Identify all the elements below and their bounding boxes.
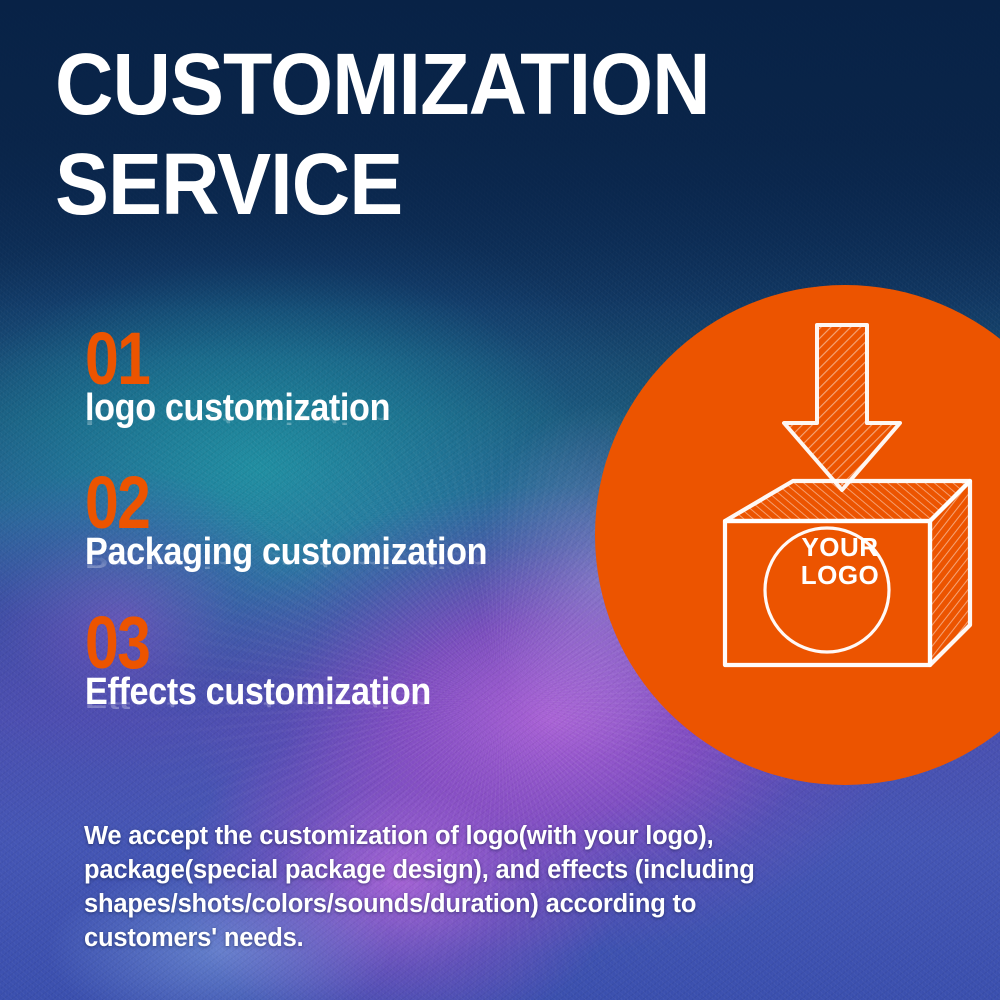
heading-line-2: SERVICE [55, 144, 735, 233]
service-title-02: Packaging customization [85, 533, 553, 571]
your-logo-line-1: YOUR [780, 533, 900, 561]
service-title-wrap-02: Packaging customization Packaging custom… [85, 533, 605, 571]
service-item-02: 02 Packaging customization Packaging cus… [85, 469, 605, 571]
heading-line-1: CUSTOMIZATION [55, 44, 735, 138]
heading-line-2-text: SERVICE [55, 144, 687, 226]
service-title-01: logo customization [85, 389, 553, 427]
service-number-01: 01 [85, 325, 511, 393]
service-number-03: 03 [85, 609, 511, 677]
description-line-1: We accept the customization of logo(with… [84, 820, 844, 854]
description-paragraph: We accept the customization of logo(with… [84, 820, 844, 956]
service-title-03: Effects customization [85, 673, 553, 711]
heading-line-1-text: CUSTOMIZATION [55, 44, 687, 126]
service-title-wrap-01: logo customization logo customization [85, 389, 605, 427]
description-line-2: package(special package design), and eff… [84, 854, 844, 888]
your-logo-line-2: LOGO [780, 561, 900, 589]
down-arrow-icon [784, 325, 900, 490]
service-list: 01 logo customization logo customization… [85, 325, 605, 727]
service-item-01: 01 logo customization logo customization [85, 325, 605, 427]
description-line-3: shapes/shots/colors/sounds/duration) acc… [84, 888, 844, 922]
service-item-03: 03 Effects customization Effects customi… [85, 609, 605, 711]
your-logo-label: YOUR LOGO [780, 533, 900, 589]
service-number-02: 02 [85, 469, 511, 537]
page-title: CUSTOMIZATION SERVICE [55, 44, 735, 239]
description-line-4: customers' needs. [84, 922, 844, 956]
service-title-wrap-03: Effects customization Effects customizat… [85, 673, 605, 711]
customization-service-banner: CUSTOMIZATION SERVICE 01 logo customizat… [0, 0, 1000, 1000]
